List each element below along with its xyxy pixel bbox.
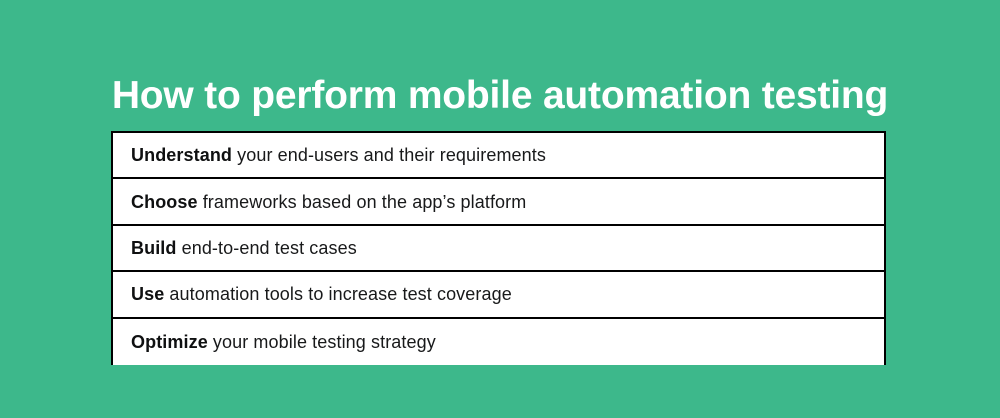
step-rest-text: automation tools to increase test covera… (164, 284, 512, 304)
step-text: Use automation tools to increase test co… (131, 283, 512, 305)
step-lead-word: Use (131, 284, 164, 304)
step-rest-text: your mobile testing strategy (208, 332, 436, 352)
step-rest-text: frameworks based on the app’s platform (198, 192, 527, 212)
step-lead-word: Understand (131, 145, 232, 165)
table-row: Optimize your mobile testing strategy (113, 319, 884, 365)
table-row: Build end-to-end test cases (113, 226, 884, 272)
step-rest-text: your end-users and their requirements (232, 145, 546, 165)
step-text: Build end-to-end test cases (131, 237, 357, 259)
table-row: Use automation tools to increase test co… (113, 272, 884, 318)
steps-table: Understand your end-users and their requ… (111, 131, 886, 365)
step-rest-text: end-to-end test cases (177, 238, 357, 258)
step-text: Choose frameworks based on the app’s pla… (131, 191, 526, 213)
step-text: Optimize your mobile testing strategy (131, 331, 436, 353)
step-lead-word: Choose (131, 192, 198, 212)
page-title: How to perform mobile automation testing (0, 72, 1000, 120)
infographic-canvas: How to perform mobile automation testing… (0, 0, 1000, 418)
table-row: Choose frameworks based on the app’s pla… (113, 179, 884, 225)
step-text: Understand your end-users and their requ… (131, 144, 546, 166)
table-row: Understand your end-users and their requ… (113, 133, 884, 179)
step-lead-word: Optimize (131, 332, 208, 352)
step-lead-word: Build (131, 238, 177, 258)
